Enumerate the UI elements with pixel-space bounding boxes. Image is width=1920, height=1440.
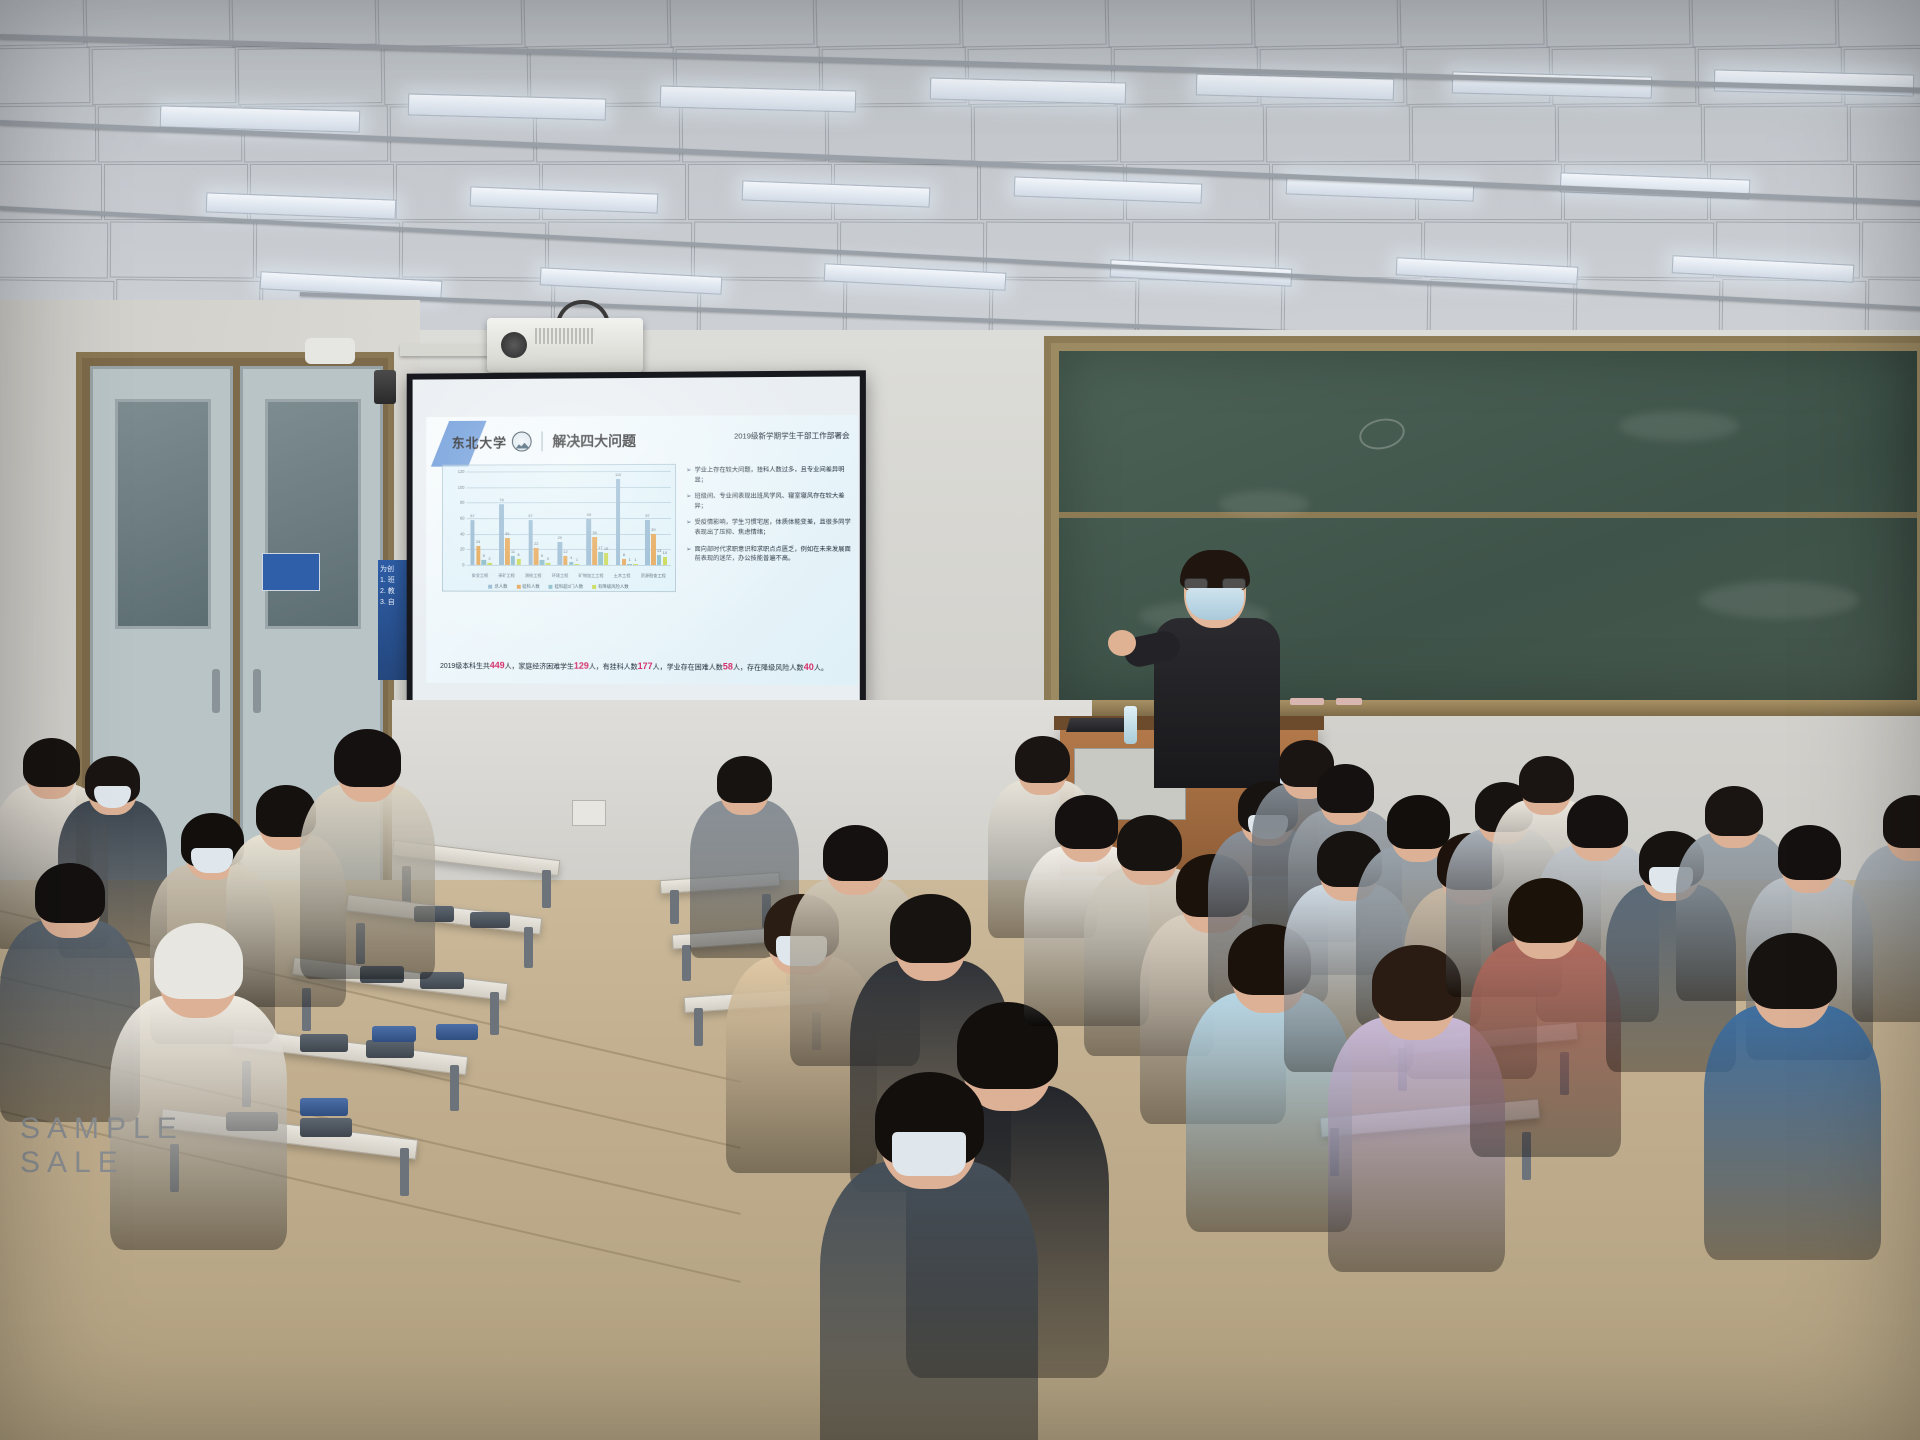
student [820, 1080, 1038, 1440]
ceiling-tile [0, 47, 90, 105]
student-hair [1705, 786, 1763, 836]
student-face-mask [892, 1132, 965, 1176]
chart-legend-item: 挂科人数 [516, 584, 539, 590]
chart-bar: 6 [540, 560, 545, 565]
footnote-seg: 人，存在降级风险人数 [733, 665, 804, 672]
chart-x-label: 测绘工程 [525, 573, 542, 579]
student [1470, 884, 1621, 1177]
chart-x-label: 安全工程 [472, 573, 489, 579]
chart-bar-value: 17 [598, 545, 602, 550]
podium-laptop[interactable] [1066, 718, 1132, 732]
legend-swatch [516, 585, 520, 589]
chart-bar: 6 [482, 560, 487, 565]
ceiling-tile [992, 279, 1137, 337]
smoke-detector-icon [305, 338, 355, 364]
chalk-smudge [1619, 411, 1739, 441]
ceiling-tile [1691, 0, 1836, 47]
chart-legend-item: 挂科超3门人数 [549, 584, 584, 590]
legend-label: 挂科超3门人数 [555, 584, 584, 590]
chart-bar: 35 [505, 538, 510, 565]
projector-lens-icon [501, 332, 527, 358]
ceiling-tile [110, 222, 254, 279]
ceiling-tile [1545, 0, 1690, 47]
chart-bar: 1 [627, 564, 632, 565]
bullet-text: 班级间、专业间表现出班风学风、寝室寝风存在较大差异； [694, 492, 851, 512]
chart-bar: 29 [557, 542, 562, 565]
door-window [115, 399, 211, 629]
chart-bar-value: 1 [629, 557, 631, 562]
ceiling-tile [0, 222, 108, 279]
desk-leg [694, 1008, 703, 1046]
desk-leg [524, 927, 533, 968]
ceiling-tile [986, 222, 1130, 279]
chart-x-label: 土木工程 [614, 573, 631, 579]
chart-bar: 15 [604, 553, 609, 565]
ceiling-tile [1856, 164, 1920, 220]
jacket-print-text: SAMPLE SALE [20, 1112, 184, 1180]
jacket-line-2: SALE [20, 1146, 184, 1180]
chalk-stick[interactable] [1336, 698, 1362, 705]
chart-bar-value: 57 [470, 514, 474, 519]
student-seat[interactable] [470, 912, 510, 928]
chart-bar-group: 572462 [470, 471, 492, 564]
ceiling-tile [256, 222, 400, 279]
chart-legend-item: 总人数 [489, 584, 508, 590]
bullet-text: 学业上存在较大问题，挂科人数过多，且专业间差异明显； [694, 465, 851, 485]
lecturer-face-mask [1186, 588, 1244, 620]
list-item: ➢ 面向部时代求职意识和求职点点匮乏，例如在未来发展面前表现的迷茫，办公技能普遍… [686, 545, 852, 564]
student-hair [890, 894, 971, 963]
ceiling-tile [1558, 106, 1702, 163]
chart-bar: 78 [499, 504, 504, 565]
ceiling-tile [1399, 0, 1544, 47]
student-hair [1883, 795, 1920, 848]
footnote-seg: 人，学业存在困难人数 [653, 664, 723, 671]
chart-bar-group: 57391310 [645, 471, 667, 565]
arrow-bullet-icon: ➢ [686, 518, 691, 537]
chart-bar-value: 57 [645, 513, 649, 518]
header-divider [542, 431, 543, 451]
chart-bar-value: 8 [517, 552, 519, 557]
footnote-seg: 人。 [814, 665, 828, 672]
student-hair [1519, 756, 1574, 803]
list-item: ➢ 受疫情影响，学生习惯宅居，体质体能变差，且很多同学表现出了压抑、焦虑情绪； [686, 518, 852, 537]
chart-bar-value: 8 [623, 552, 625, 557]
university-logo-text: 东北大学 [452, 432, 507, 451]
door-sign [262, 553, 320, 591]
chart-bar: 24 [476, 546, 481, 565]
chart-bar-value: 6 [483, 553, 485, 558]
chalk-mark [1356, 415, 1407, 454]
chart-y-tick: 80 [445, 500, 465, 505]
student-seat[interactable] [372, 1026, 416, 1042]
ceiling-tile [238, 47, 383, 105]
student-hair [1748, 933, 1836, 1009]
chart-bar-value: 36 [592, 530, 596, 535]
chart-bar-value: 1 [634, 557, 636, 562]
arrow-bullet-icon: ➢ [686, 545, 691, 564]
university-seal-icon [512, 431, 532, 451]
chart-bar-group: 59361715 [587, 471, 609, 565]
door-handle-right[interactable] [253, 669, 261, 713]
footnote-difficult: 58 [723, 661, 733, 671]
chart-x-label: 矿物加工工程 [578, 573, 603, 579]
chart-bar-group: 291241 [557, 471, 579, 565]
chart-bar-value: 24 [476, 539, 480, 544]
chart-bars: 5724627835118572263291241593617151108115… [467, 471, 671, 565]
chart-x-axis-labels: 安全工程采矿工程测绘工程环境工程矿物加工工程土木工程资源勘查工程 [467, 573, 671, 579]
chart-bar-value: 15 [604, 546, 608, 551]
chart-bar-value: 13 [657, 548, 661, 553]
chart-bar: 17 [598, 552, 603, 565]
arrow-bullet-icon: ➢ [686, 466, 691, 485]
ceiling-tile [974, 106, 1118, 163]
desk-leg [490, 992, 499, 1035]
student-hair [1015, 736, 1070, 783]
student-body [820, 1161, 1038, 1440]
footnote-fail: 177 [638, 661, 653, 671]
ceiling-tile [1253, 0, 1398, 47]
chart-plot-area: 020406080100120 572462783511857226329124… [467, 471, 671, 565]
chart-bar: 110 [616, 479, 621, 565]
chart-bar-value: 57 [528, 513, 532, 518]
legend-label: 总人数 [494, 584, 507, 590]
ceiling-tile [1837, 0, 1920, 47]
chart-bar-value: 3 [547, 556, 549, 561]
footnote-seg: 人，有挂科人 [589, 664, 631, 671]
water-bottle [1124, 706, 1137, 744]
chart-bar-value: 35 [505, 531, 509, 536]
chart-bar: 57 [645, 520, 650, 565]
chart-bar-value: 10 [663, 550, 667, 555]
chart-bar: 10 [663, 557, 668, 565]
ceiling-tile [1107, 0, 1252, 47]
ceiling-tile [1722, 279, 1867, 337]
chalk-smudge [1699, 581, 1859, 619]
chart-bar-value: 39 [651, 527, 655, 532]
slide-title: 解决四大问题 [552, 431, 636, 451]
ceiling-tile [1266, 106, 1410, 163]
chart-bar-value: 2 [488, 556, 490, 561]
desk-leg [450, 1065, 459, 1111]
door-handle-left[interactable] [212, 669, 220, 713]
chart-y-tick: 20 [445, 547, 465, 552]
lecturer-hand [1108, 630, 1136, 656]
chart-bar-value: 6 [541, 553, 543, 558]
student [300, 734, 435, 997]
student-hair [334, 729, 402, 787]
chart-bar: 8 [516, 559, 521, 565]
chart-y-tick: 120 [445, 469, 465, 474]
desk-leg [400, 1148, 409, 1196]
chart-bar-value: 4 [570, 555, 572, 560]
footnote-seg: 2019级本科生共 [440, 663, 490, 670]
chart-bar-value: 29 [557, 535, 561, 540]
chart-legend: 总人数挂科人数挂科超3门人数有降级风险人数 [443, 584, 675, 590]
student-seat[interactable] [436, 1024, 478, 1040]
chart-bar-value: 59 [587, 512, 591, 517]
chart-bar: 59 [587, 519, 592, 565]
blackboard-divider [1059, 512, 1917, 518]
chart-bar: 3 [545, 563, 550, 565]
desk-leg [670, 890, 679, 924]
slide-subtitle: 2019级新学期学生干部工作部署会 [734, 430, 850, 442]
chart-bar: 2 [487, 563, 492, 565]
ceiling-tile [1412, 106, 1556, 163]
legend-swatch [592, 585, 596, 589]
student [110, 930, 287, 1273]
chart-y-tick: 60 [445, 516, 465, 521]
chart-bar-value: 22 [534, 541, 538, 546]
chart-bar: 4 [569, 562, 574, 565]
chart-bar-group: 572263 [528, 471, 550, 565]
slide-footnote: 2019级本科生共449人，家庭经济困难学生129人，有挂科人数177人，学业存… [440, 659, 846, 675]
chart-x-label: 采矿工程 [498, 573, 515, 579]
chart-bar: 57 [470, 521, 475, 565]
wall-speaker [374, 370, 396, 404]
chart-y-tick: 40 [445, 531, 465, 536]
student-hair [1778, 825, 1841, 880]
legend-swatch [549, 585, 553, 589]
chart-bar-value: 11 [511, 549, 515, 554]
student-body [1852, 845, 1920, 1022]
student [1852, 800, 1920, 1038]
projector-vent [535, 328, 595, 344]
legend-swatch [489, 585, 493, 589]
chart-y-tick: 100 [445, 485, 465, 490]
student-seat[interactable] [300, 1034, 348, 1052]
student-hair [154, 923, 242, 999]
ceiling-tile [1284, 279, 1429, 337]
ceiling-tile [377, 0, 522, 47]
jacket-line-1: SAMPLE [20, 1112, 184, 1146]
chart-bar: 22 [534, 548, 539, 565]
chart-y-tick: 0 [445, 562, 465, 567]
presentation-slide: 东北大学 解决四大问题 2019级新学期学生干部工作部署会 0204060801… [426, 415, 857, 686]
ceiling-tile [0, 106, 96, 163]
list-item: ➢ 学业上存在较大问题，挂科人数过多，且专业间差异明显； [686, 465, 852, 485]
chart-bar: 1 [633, 564, 638, 565]
ceiling-tile [92, 47, 237, 105]
slide-bullet-list: ➢ 学业上存在较大问题，挂科人数过多，且专业间差异明显； ➢ 班级间、专业间表现… [686, 465, 852, 571]
ceiling-tile [1704, 106, 1848, 163]
chart-bar: 11 [511, 556, 516, 565]
ceiling-tile [1850, 106, 1920, 163]
door-window [265, 399, 361, 629]
classroom-photo: 为创 1. 班 2. 教 3. 自 东北大学 [0, 0, 1920, 1440]
chart-bar: 12 [563, 556, 568, 565]
student-seat[interactable] [300, 1118, 352, 1137]
ceiling-tile [1576, 279, 1721, 337]
footnote-poor: 129 [574, 661, 589, 671]
legend-label: 挂科人数 [522, 584, 539, 590]
ceiling-tile [815, 0, 960, 47]
chart-bar: 1 [575, 564, 580, 565]
ceiling-tile [523, 0, 668, 47]
student-body [1704, 1005, 1881, 1260]
chart-bar: 13 [657, 555, 662, 565]
legend-label: 有降级风险人数 [598, 584, 629, 590]
student-body [300, 784, 435, 979]
projection-screen: 东北大学 解决四大问题 2019级新学期学生干部工作部署会 0204060801… [407, 370, 866, 713]
student-seat[interactable] [300, 1098, 348, 1116]
ceiling-tile [1120, 106, 1264, 163]
chart-x-label: 环境工程 [552, 573, 569, 579]
bullet-text: 面向部时代求职意识和求职点点匮乏，例如在未来发展面前表现的迷茫，办公技能普遍不高… [694, 545, 851, 564]
student-hair [823, 825, 888, 881]
footnote-total: 449 [490, 660, 505, 670]
chart-bar: 8 [622, 559, 627, 565]
footnote-risk: 40 [804, 662, 814, 672]
ceiling-tile [669, 0, 814, 47]
chart-bar-group: 110811 [616, 471, 638, 565]
student-body [1470, 940, 1621, 1158]
ceiling-tile [828, 106, 972, 163]
chalk-smudge [1219, 491, 1309, 517]
student-hair [35, 863, 105, 923]
chart-bar-value: 78 [499, 497, 503, 502]
chart-legend-item: 有降级风险人数 [592, 584, 629, 590]
desk-leg [542, 870, 551, 908]
list-item: ➢ 班级间、专业间表现出班风学风、寝室寝风存在较大差异； [686, 492, 852, 512]
chart-bar: 39 [651, 534, 656, 565]
chart-bar-value: 110 [615, 472, 621, 477]
bar-chart: 020406080100120 572462783511857226329124… [442, 464, 676, 592]
ceiling-tile [1862, 222, 1920, 279]
chart-bar: 57 [528, 520, 533, 564]
chart-bar-value: 12 [563, 549, 567, 554]
student-seat[interactable] [366, 1040, 414, 1058]
footnote-seg: 数 [631, 664, 638, 671]
bullet-text: 受疫情影响，学生习惯宅居，体质体能变差，且很多同学表现出了压抑、焦虑情绪； [694, 518, 851, 537]
chart-x-label: 资源勘查工程 [641, 573, 666, 579]
chart-bar-group: 7835118 [499, 471, 521, 565]
student-hair [717, 756, 772, 803]
ceiling-tile [961, 0, 1106, 47]
footnote-seg: 人，家庭经济困难学生 [505, 663, 574, 670]
arrow-bullet-icon: ➢ [686, 492, 691, 511]
wall-outlet [572, 800, 606, 826]
ceiling-projector [487, 318, 643, 372]
student-hair [1508, 878, 1583, 943]
chart-bar: 36 [592, 537, 597, 565]
chart-bar-value: 1 [576, 557, 578, 562]
